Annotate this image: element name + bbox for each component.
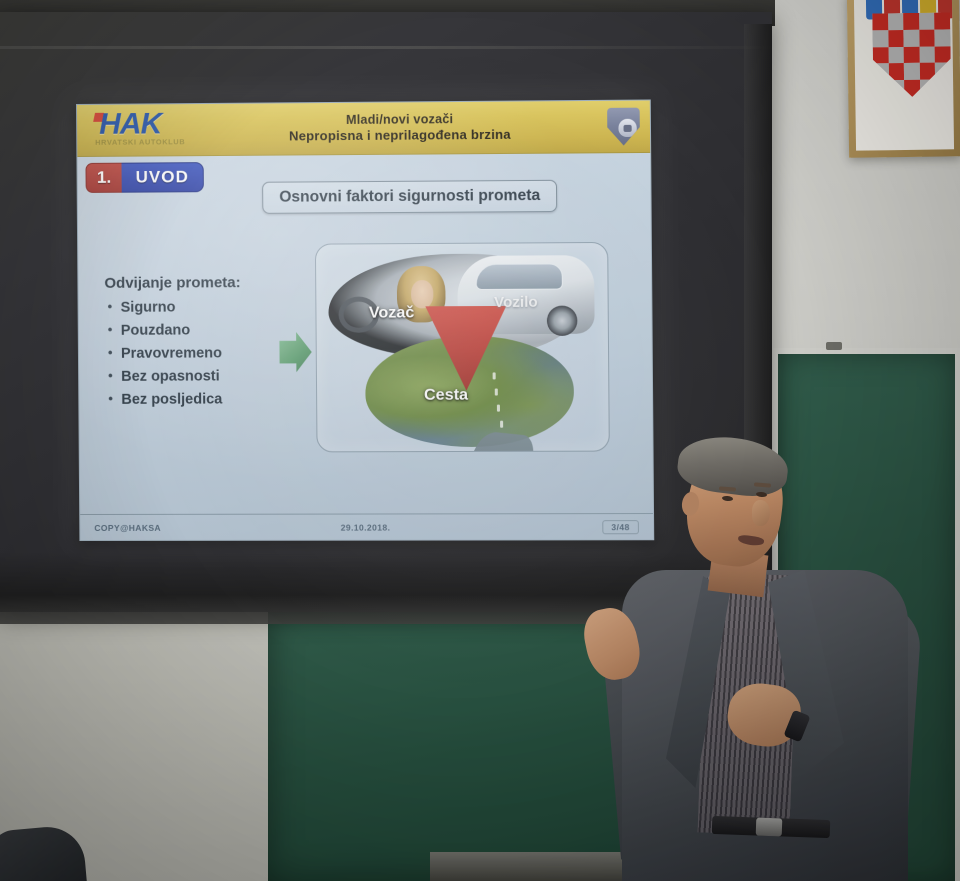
list-item: Bez posljedica xyxy=(105,388,306,412)
label-vehicle: Vozilo xyxy=(494,294,538,311)
mup-shield-emblem-icon xyxy=(603,104,644,149)
hak-logo-subtitle: HRVATSKI AUTOKLUB xyxy=(95,139,185,147)
bullet-list-lead: Odvijanje prometa: xyxy=(104,274,305,292)
car-wheel xyxy=(547,306,578,336)
chalkboard-clip xyxy=(826,342,842,350)
list-item: Sigurno xyxy=(105,296,306,320)
bullet-list: Odvijanje prometa: Sigurno Pouzdano Prav… xyxy=(104,274,306,412)
screen-seam xyxy=(0,46,772,49)
photo-scene: HAK HRVATSKI AUTOKLUB Mladi/novi vozači … xyxy=(0,0,960,881)
slide-header: HAK HRVATSKI AUTOKLUB Mladi/novi vozači … xyxy=(77,101,650,157)
hak-logo-text: HAK xyxy=(99,109,161,139)
presenter xyxy=(560,430,960,881)
footer-date: 29.10.2018. xyxy=(341,522,391,532)
factors-diagram: Vozač Vozilo Cesta xyxy=(315,242,610,452)
section-label: UVOD xyxy=(121,162,204,193)
coat-of-arms-checkerboard xyxy=(872,12,951,97)
list-item: Bez opasnosti xyxy=(105,365,306,389)
presenter-belt-buckle xyxy=(756,818,783,837)
label-road: Cesta xyxy=(424,387,468,405)
label-driver: Vozač xyxy=(369,304,415,322)
section-badge: 1. UVOD xyxy=(85,162,204,193)
footer-copyright: COPY@HAKSA xyxy=(94,522,161,532)
slide-title-line2: Nepropisna i neprilagođena brzina xyxy=(205,126,595,144)
car-window xyxy=(476,263,563,290)
road-surface xyxy=(462,430,535,452)
driver-face xyxy=(411,280,433,308)
content-title: Osnovni faktori sigurnosti prometa xyxy=(262,180,557,214)
presenter-nose xyxy=(752,500,770,526)
list-item: Pravovremeno xyxy=(105,342,306,366)
coat-of-arms-frame xyxy=(847,0,960,158)
hak-logo: HAK HRVATSKI AUTOKLUB xyxy=(85,107,206,152)
list-item: Pouzdano xyxy=(105,319,306,343)
section-number: 1. xyxy=(85,163,121,193)
slide-header-titles: Mladi/novi vozači Nepropisna i neprilago… xyxy=(205,111,603,144)
